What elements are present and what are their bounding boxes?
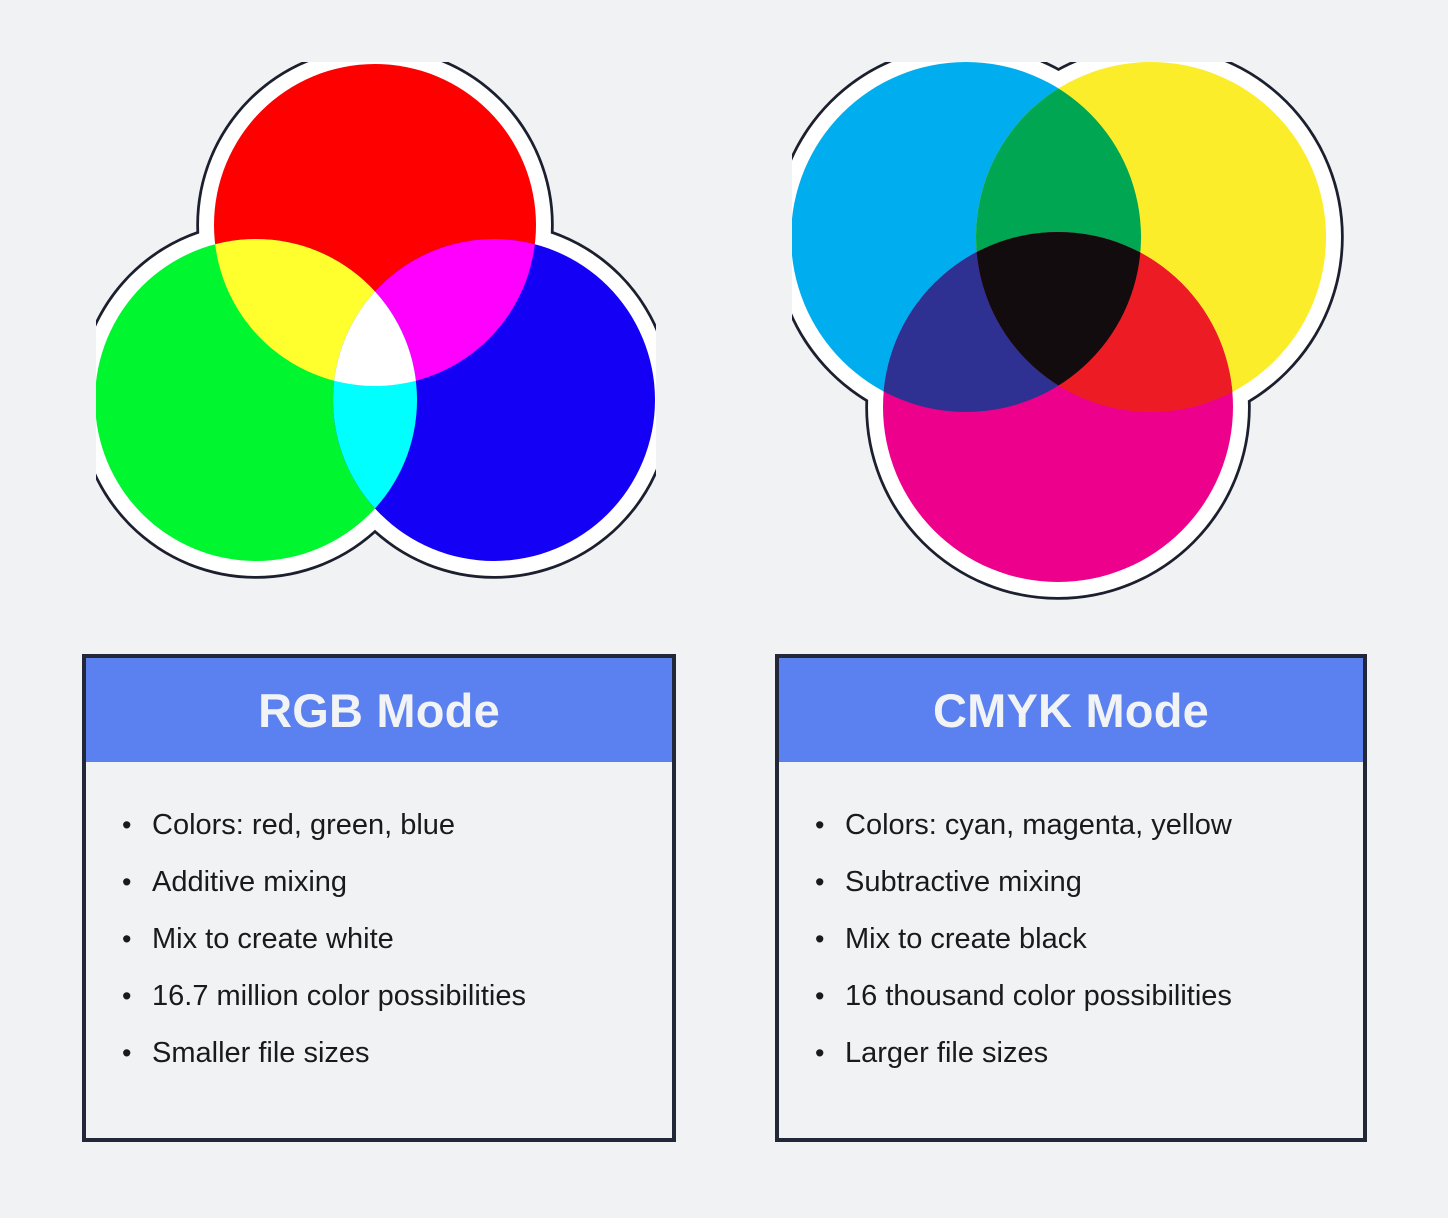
list-item-label: 16 thousand color possibilities [845,979,1232,1013]
list-item-label: Mix to create white [152,922,394,956]
rgb-panel-title: RGB Mode [258,687,500,734]
list-item: • Mix to create white [86,922,672,979]
list-item-label: Subtractive mixing [845,865,1082,899]
bullet-icon: • [815,922,845,956]
list-item: • 16.7 million color possibilities [86,979,672,1036]
bullet-icon: • [122,808,152,842]
list-item-label: 16.7 million color possibilities [152,979,526,1013]
rgb-mode-panel: RGB Mode • Colors: red, green, blue • Ad… [82,654,676,1142]
list-item: • Mix to create black [779,922,1363,979]
list-item: • Colors: cyan, magenta, yellow [779,808,1363,865]
rgb-venn-diagram [96,62,656,582]
cmyk-panel-body: • Colors: cyan, magenta, yellow • Subtra… [779,762,1363,1093]
bullet-icon: • [815,865,845,899]
bullet-icon: • [122,865,152,899]
bullet-icon: • [815,808,845,842]
bullet-icon: • [122,922,152,956]
cmyk-mode-panel: CMYK Mode • Colors: cyan, magenta, yello… [775,654,1367,1142]
list-item-label: Mix to create black [845,922,1087,956]
list-item: • Additive mixing [86,865,672,922]
list-item: • Larger file sizes [779,1036,1363,1093]
list-item-label: Colors: red, green, blue [152,808,455,842]
cmyk-feature-list: • Colors: cyan, magenta, yellow • Subtra… [779,808,1363,1093]
cmyk-panel-header: CMYK Mode [779,658,1363,762]
cmyk-panel-title: CMYK Mode [933,687,1209,734]
list-item-label: Smaller file sizes [152,1036,370,1070]
rgb-panel-body: • Colors: red, green, blue • Additive mi… [86,762,672,1093]
infographic-canvas: RGB Mode • Colors: red, green, blue • Ad… [0,0,1448,1218]
bullet-icon: • [815,1036,845,1070]
list-item: • Subtractive mixing [779,865,1363,922]
bullet-icon: • [122,979,152,1013]
list-item: • 16 thousand color possibilities [779,979,1363,1036]
rgb-panel-header: RGB Mode [86,658,672,762]
list-item: • Colors: red, green, blue [86,808,672,865]
rgb-feature-list: • Colors: red, green, blue • Additive mi… [86,808,672,1093]
list-item-label: Additive mixing [152,865,347,899]
list-item-label: Colors: cyan, magenta, yellow [845,808,1232,842]
list-item: • Smaller file sizes [86,1036,672,1093]
bullet-icon: • [122,1036,152,1070]
bullet-icon: • [815,979,845,1013]
cmyk-venn-diagram [792,62,1352,602]
list-item-label: Larger file sizes [845,1036,1048,1070]
